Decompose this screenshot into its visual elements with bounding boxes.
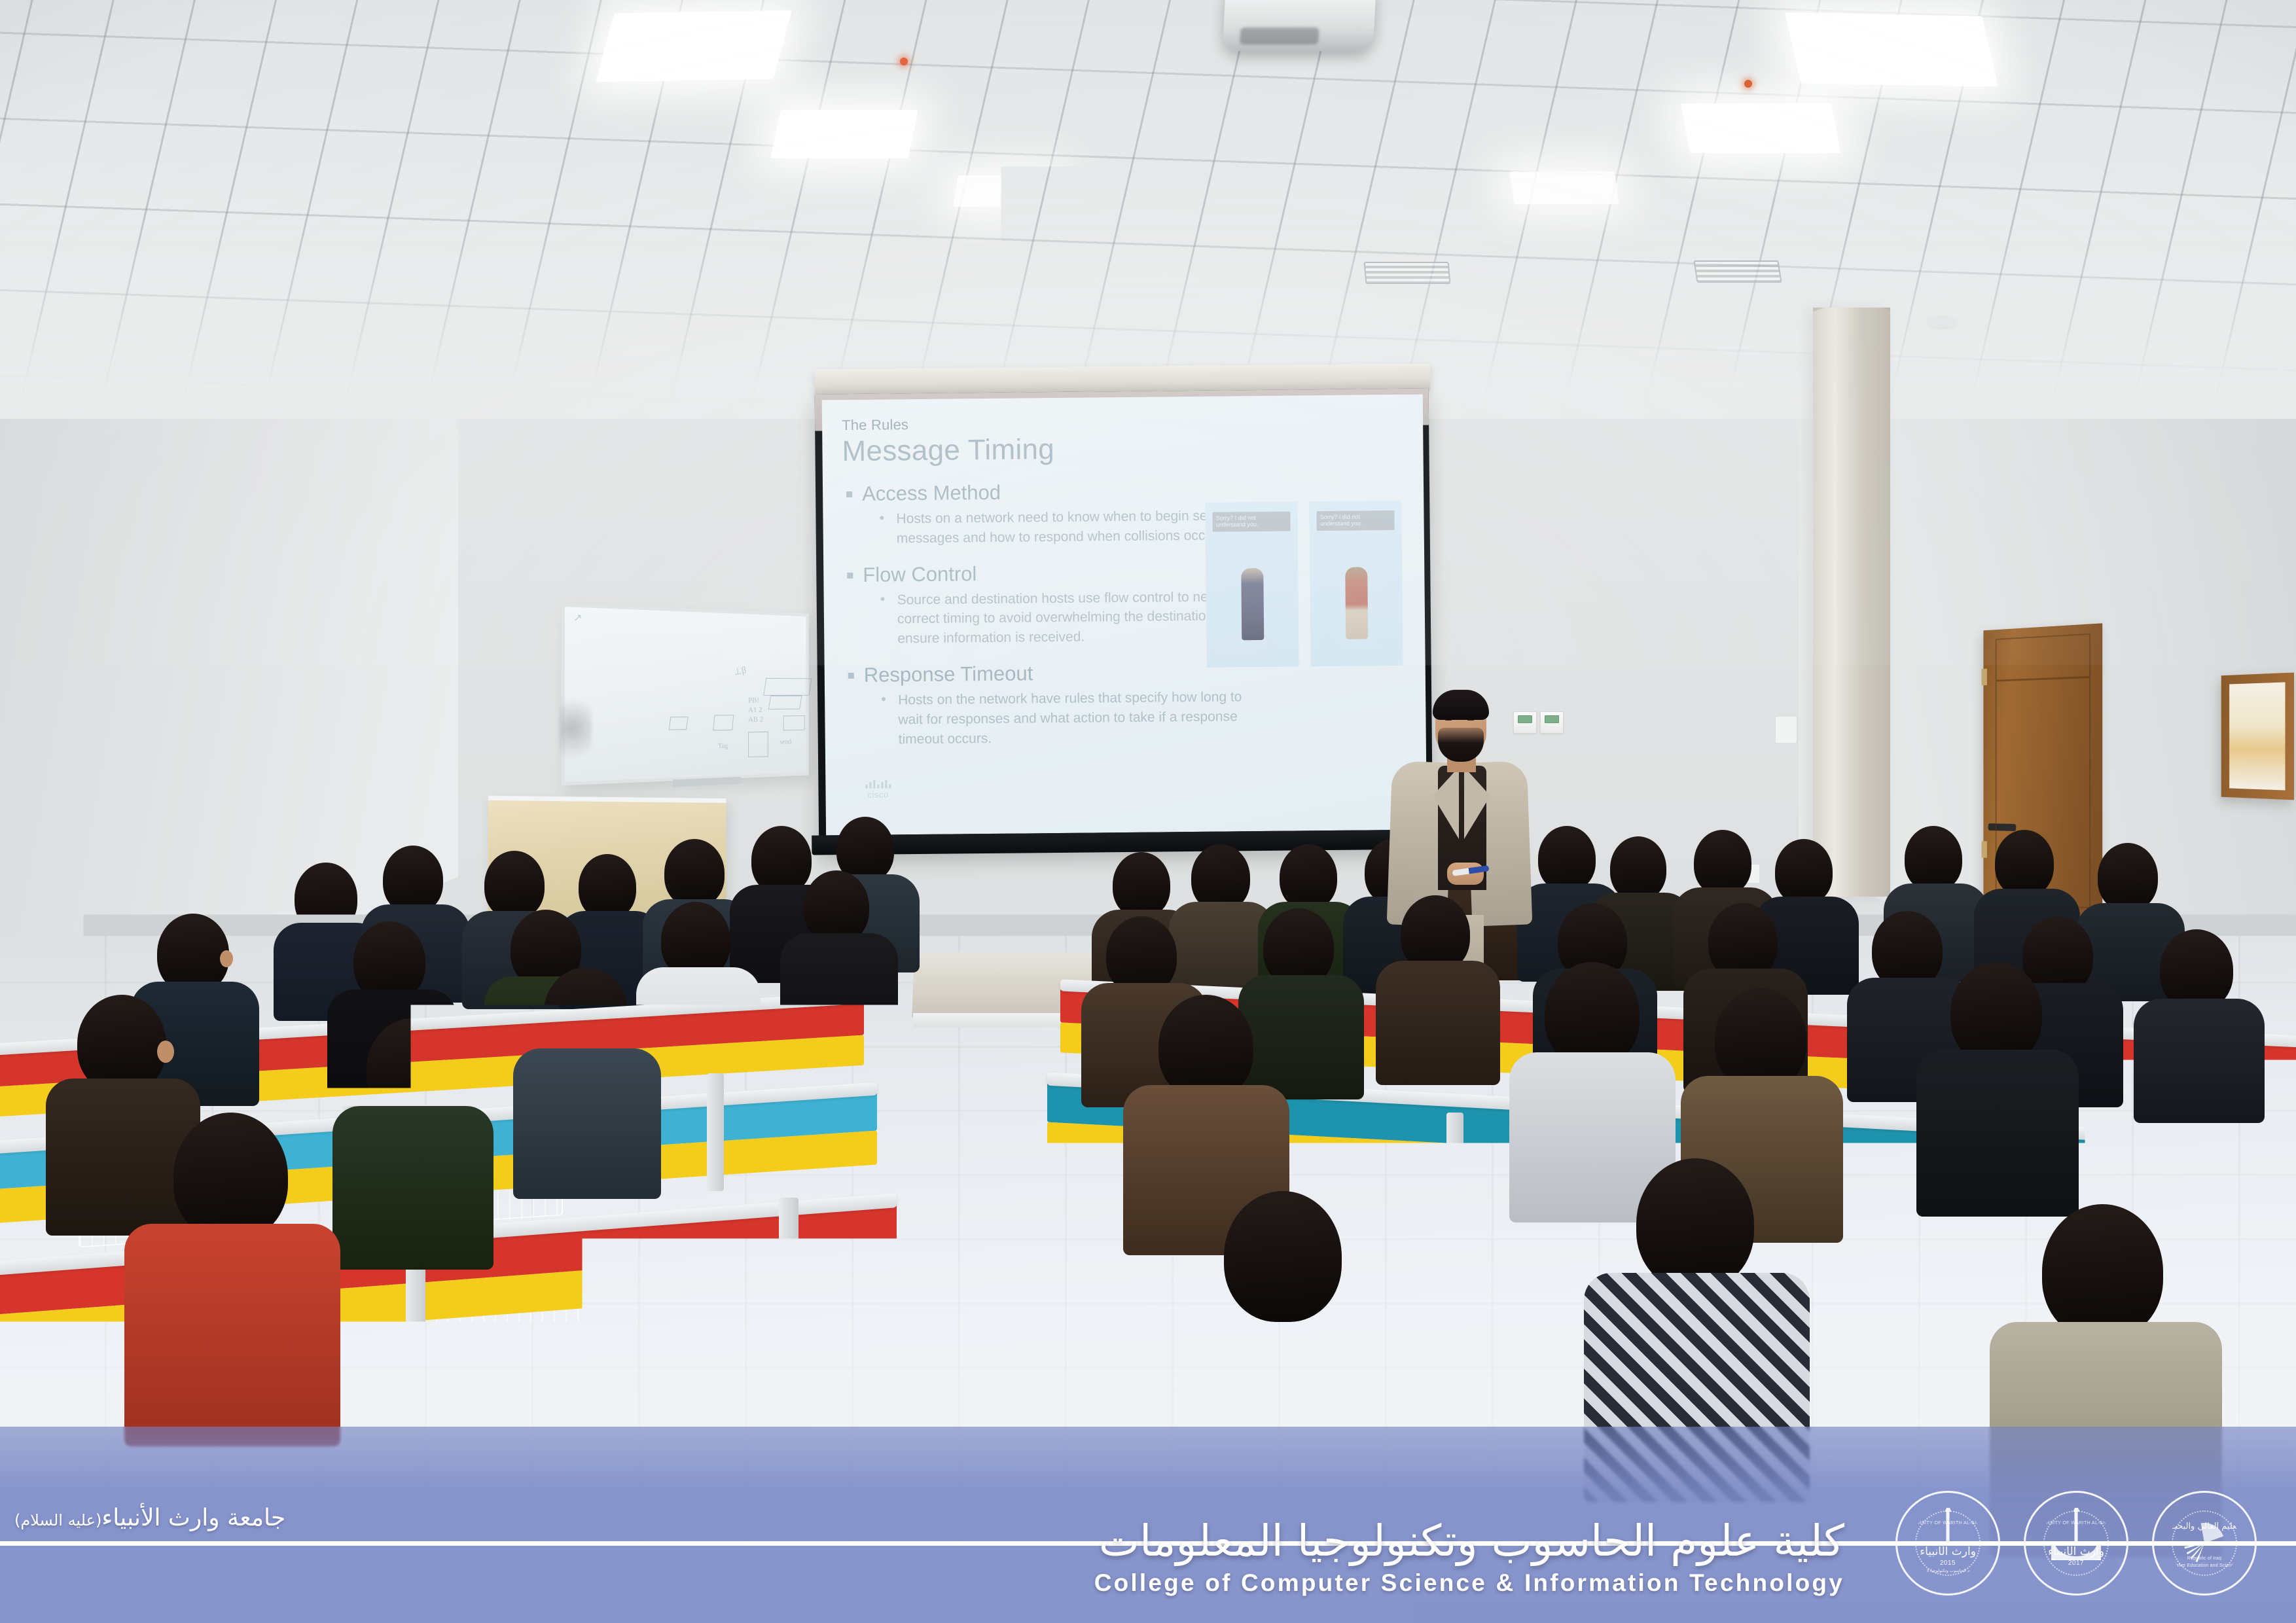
whiteboard-diagram-box (783, 715, 805, 730)
illustration-person-man (1345, 567, 1368, 639)
student-head (1905, 826, 1962, 891)
bottom-banner: جامعة وارث الأنبياء(عليه السلام) كلية عل… (0, 1427, 2296, 1623)
student-body (780, 933, 898, 1051)
student-head (1538, 826, 1596, 891)
seal-ring-text: UNIVERSITY OF WARITH AL-ANBIYAA (1912, 1521, 1983, 1526)
speech-bubble-text: Sorry? I did not understand you. (1317, 510, 1395, 530)
ministry-seal-logo: وزارة التعليم العالي والبحث العلمي Repub… (2152, 1491, 2257, 1596)
seal-year: 2017 (2068, 1560, 2084, 1567)
seal-ring-text: UNIVERSITY OF WARITH AL-ANBIYAA (2041, 1521, 2111, 1526)
student-head (664, 839, 725, 907)
student-head (1610, 836, 1666, 901)
wall-socket (1775, 716, 1797, 743)
whiteboard-smudge (559, 690, 591, 767)
college-seal-logo: UNIVERSITY OF WARITH AL-ANBIYAA وارث الأ… (1895, 1491, 2000, 1596)
bench-frame-post (779, 1198, 798, 1335)
bench-frame-post (1446, 1113, 1463, 1237)
banner-college-english: College of Computer Science & Informatio… (1094, 1569, 1844, 1597)
student-head (1158, 995, 1253, 1099)
ceiling-light-panel (953, 175, 1056, 207)
door-panel-line (1997, 676, 2090, 682)
student-head (1694, 830, 1751, 895)
whiteboard-marking: ↗ (573, 611, 582, 625)
illustration-person-woman (1241, 568, 1264, 640)
door-hinge (1982, 841, 1987, 858)
whiteboard-marking: Tag (718, 742, 728, 750)
student-body (124, 1224, 340, 1446)
student-ear (157, 1041, 174, 1063)
student-head (1775, 839, 1833, 904)
student-head (1636, 1158, 1754, 1289)
slide-body-response-timeout: Hosts on the network have rules that spe… (898, 687, 1252, 749)
student-body (2134, 999, 2265, 1123)
student-head (484, 851, 545, 919)
presenter-beard (1438, 728, 1484, 762)
ministry-english-line1: Republic of Iraq (2187, 1556, 2221, 1561)
banner-logos: UNIVERSITY OF WARITH AL-ANBIYAA وارث الأ… (1895, 1491, 2257, 1596)
cisco-logo: cisco (848, 779, 908, 800)
bench-frame-post (1505, 1243, 1525, 1391)
university-seal-emblem: UNIVERSITY OF WARITH AL-ANBIYAA وارث الأ… (2041, 1508, 2111, 1578)
indicator-light (900, 58, 908, 65)
student-body (513, 1048, 661, 1199)
college-seal-emblem: UNIVERSITY OF WARITH AL-ANBIYAA وارث الأ… (1912, 1508, 1983, 1578)
banner-left-main: جامعة وارث الأنبياء (101, 1505, 285, 1531)
student-head (1995, 830, 2054, 897)
presenter-hair (1433, 690, 1489, 720)
ceiling-light-panel (1785, 12, 1998, 86)
student-head (1950, 962, 2042, 1064)
presentation-slide: The Rules Message Timing Access Method H… (822, 395, 1427, 836)
whiteboard-diagram-box (748, 732, 768, 757)
student-head (751, 826, 812, 894)
banner-university-name-arabic: جامعة وارث الأنبياء(عليه السلام) (14, 1505, 285, 1531)
indicator-light (1744, 80, 1752, 88)
cisco-bars-icon (848, 779, 908, 789)
whiteboard-diagram-box (713, 715, 734, 730)
framed-picture (2221, 673, 2294, 800)
student-body (1238, 975, 1364, 1099)
whiteboard-diagram-box (768, 696, 802, 709)
ceiling-light-panel (1681, 103, 1841, 153)
ac-control-panel[interactable] (1540, 711, 1564, 734)
student-body (332, 1106, 493, 1270)
ceiling-light-panel (596, 10, 792, 82)
banner-left-suffix: (عليه السلام) (14, 1511, 101, 1529)
seal-year: 2015 (1940, 1560, 1956, 1567)
student-head (383, 846, 443, 914)
student-head (579, 854, 636, 919)
student-head (1224, 1191, 1342, 1322)
ministry-english-line2: Ministry of Higher Education and Scienti… (2169, 1563, 2240, 1569)
slide-illustration-left: Sorry? I did not understand you. (1205, 501, 1299, 667)
ministry-seal-emblem: وزارة التعليم العالي والبحث العلمي Repub… (2169, 1508, 2240, 1578)
speech-bubble-icon: Sorry? I did not understand you. (1213, 512, 1291, 532)
door-handle[interactable] (1988, 823, 2017, 831)
student-head (1113, 852, 1170, 918)
speech-bubble-icon: Sorry? I did not understand you. (1317, 510, 1395, 531)
drop-ceiling (0, 0, 2296, 419)
bench-frame-post (1085, 1224, 1105, 1371)
student-head (367, 1018, 458, 1120)
whiteboard-marking: ⊥β (732, 664, 747, 678)
bench-frame-post (1937, 1263, 1957, 1410)
student-body (1376, 961, 1500, 1085)
whiteboard: ↗ ⊥β PB!A1 2AB 2 Tag send (562, 603, 809, 786)
minaret-icon (1946, 1510, 1950, 1543)
student-head (1545, 962, 1640, 1067)
ceiling-light-panel (770, 110, 918, 158)
banner-college-title: كلية علوم الحاسوب وتكنولوجيا المعلومات C… (1094, 1516, 1844, 1597)
student-head (543, 967, 628, 1061)
door-hinge (1982, 669, 1987, 686)
slide-body-flow-control: Source and destination hosts use flow co… (897, 587, 1251, 649)
marble-pillar (1813, 308, 1890, 897)
student-head (1191, 844, 1250, 911)
student-ear (220, 950, 233, 967)
slide-illustrations: Sorry? I did not understand you. Sorry? … (1205, 501, 1403, 668)
slide-title: Message Timing (842, 430, 1405, 468)
banner-college-arabic: كلية علوم الحاسوب وتكنولوجيا المعلومات (1094, 1516, 1844, 1565)
lecture-hall-photo: The Rules Message Timing Access Method H… (0, 0, 2296, 1623)
projection-screen-frame: The Rules Message Timing Access Method H… (815, 389, 1433, 853)
minaret-icon (2075, 1510, 2078, 1543)
whiteboard-diagram-box (669, 717, 689, 730)
student-head (2098, 843, 2158, 911)
student-head (2042, 1204, 2163, 1339)
whiteboard-marking: send (780, 738, 791, 746)
student-body (1916, 1050, 2079, 1217)
slide-body-access-method: Hosts on a network need to know when to … (896, 506, 1250, 548)
speech-bubble-text: Sorry? I did not understand you. (1213, 512, 1291, 531)
seal-arabic: وارث الأنبياء (1920, 1546, 1976, 1559)
student-head (173, 1113, 288, 1240)
seal-arabic: وارث الأنبياء (2048, 1546, 2104, 1559)
cisco-wordmark: cisco (848, 789, 908, 800)
student-head (1715, 988, 1806, 1090)
ceiling-projector (1223, 0, 1376, 51)
university-seal-logo: UNIVERSITY OF WARITH AL-ANBIYAA وارث الأ… (2024, 1491, 2128, 1596)
ceiling-light-panel (1509, 171, 1619, 204)
seal-subtitle: كلية علوم الحاسوب وتكنولوجيا المعلومات (1912, 1569, 1983, 1573)
slide-illustration-right: Sorry? I did not understand you. (1309, 501, 1403, 666)
whiteboard-diagram-box (763, 678, 812, 696)
student-head (1280, 844, 1337, 910)
whiteboard-marking: PB!A1 2AB 2 (748, 696, 763, 724)
